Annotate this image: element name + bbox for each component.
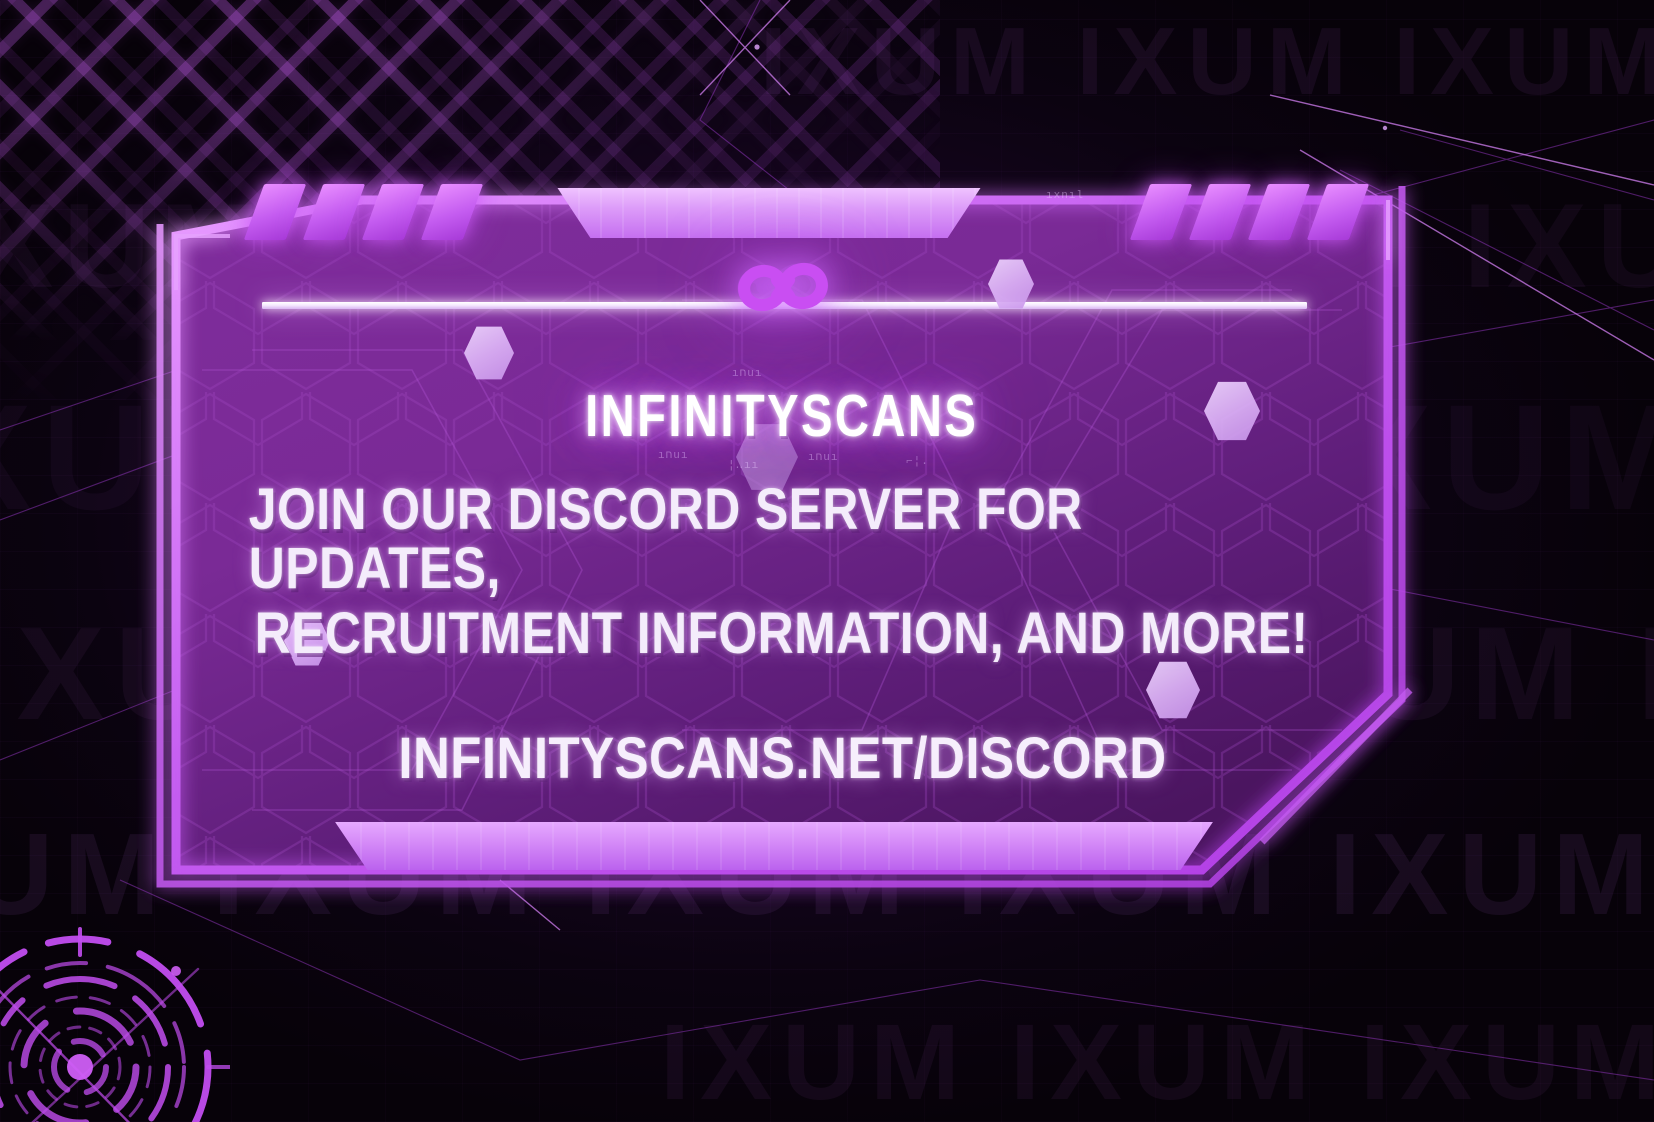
radar-target-icon (0, 917, 230, 1122)
banner-canvas: IXUM IXUM IXUM IXUM IXUM IXUM IXUM IXUM … (0, 0, 1654, 1122)
neon-panel-frame (162, 170, 1402, 910)
